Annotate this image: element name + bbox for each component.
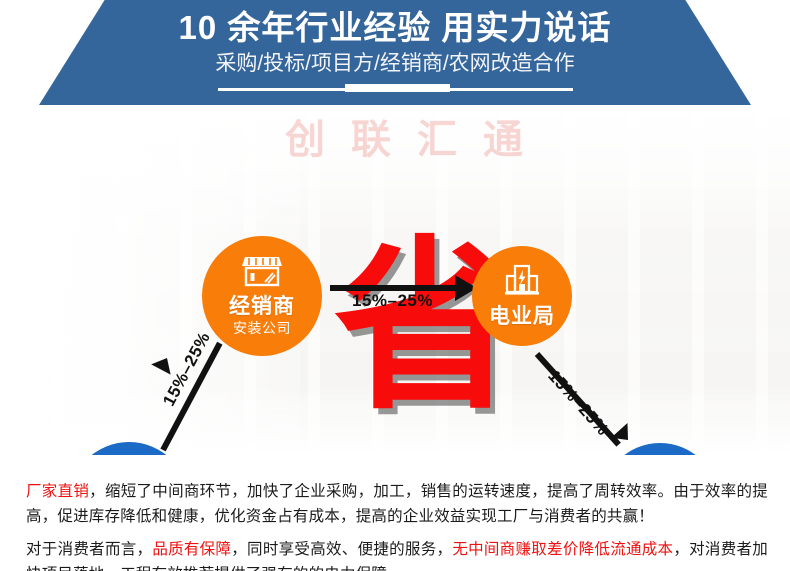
brand-watermark: 创联汇通 <box>285 107 685 165</box>
storefront-icon <box>241 255 283 292</box>
footer-highlight-direct-sales: 厂家直销 <box>26 483 89 500</box>
big-save-character: 省 <box>334 235 494 420</box>
footer-paragraph-1: 厂家直销，缩短了中间商环节，加快了企业采购，加工，销售的运转速度，提高了周转效率… <box>26 479 768 529</box>
node-dealer-sublabel: 安装公司 <box>233 320 291 337</box>
footer-copy: 厂家直销，缩短了中间商环节，加快了企业采购，加工，销售的运转速度，提高了周转效率… <box>0 455 790 571</box>
header-subtitle: 采购/投标/项目方/经销商/农网改造合作 <box>0 51 790 77</box>
node-dealer[interactable]: 经销商 安装公司 <box>202 236 322 356</box>
node-bureau-label: 电业局 <box>489 305 555 329</box>
footer-highlight-no-middleman: 无中间商赚取差价降低流通成本 <box>452 541 673 558</box>
node-bureau[interactable]: 电业局 <box>472 246 572 346</box>
arrow-dealer-to-bureau-label: 15%–25% <box>352 291 433 311</box>
footer-paragraph-2-lead: 对于消费者而言， <box>26 541 152 558</box>
diagram-stage: 创联汇通 省 15%–25% 15%–25% 15%–25% 在这里省了中间环节… <box>0 105 790 455</box>
footer-paragraph-1-rest: ，缩短了中间商环节，加快了企业采购，加工，销售的运转速度，提高了周转效率。由于效… <box>26 483 768 525</box>
promo-infographic: 10 余年行业经验 用实力说话 采购/投标/项目方/经销商/农网改造合作 创联汇… <box>0 0 790 571</box>
footer-paragraph-2: 对于消费者而言，品质有保障，同时享受高效、便捷的服务，无中间商赚取差价降低流通成… <box>26 537 768 571</box>
footer-highlight-quality: 品质有保障 <box>152 541 231 558</box>
header-divider-center <box>345 84 450 92</box>
node-dealer-label: 经销商 <box>229 295 295 319</box>
header-banner: 10 余年行业经验 用实力说话 采购/投标/项目方/经销商/农网改造合作 <box>0 0 790 105</box>
footer-paragraph-2-middle: ，同时享受高效、便捷的服务， <box>231 541 452 558</box>
header-title: 10 余年行业经验 用实力说话 <box>0 8 790 48</box>
power-building-icon <box>503 263 541 302</box>
